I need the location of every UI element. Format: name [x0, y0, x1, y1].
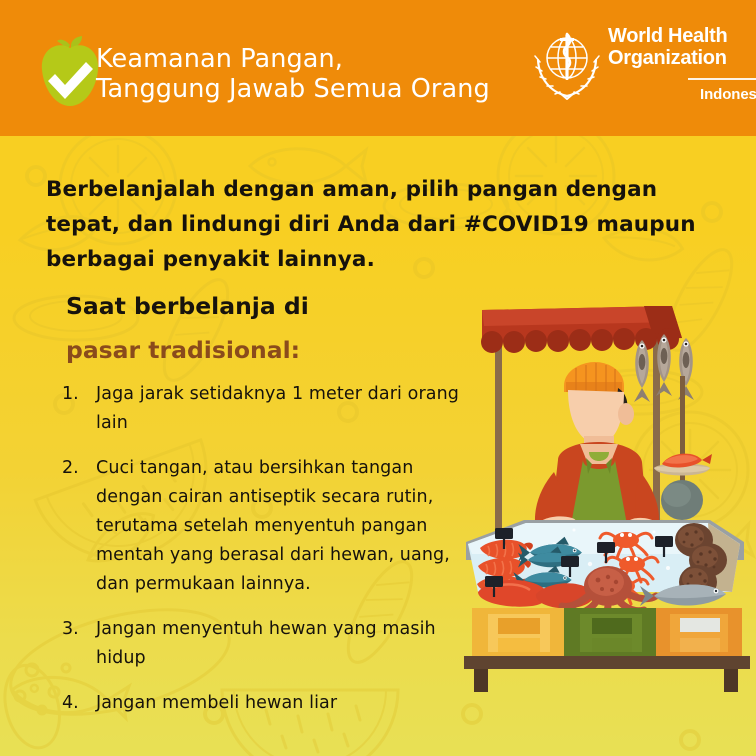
crates	[472, 608, 742, 658]
who-country-label: Indonesia	[700, 84, 756, 106]
who-logo: World Health Organization Indonesia	[530, 22, 730, 114]
list-item-text: Jangan menyentuh hewan yang masih hidup	[96, 615, 462, 673]
steps-list: 1. Jaga jarak setidaknya 1 meter dari or…	[62, 380, 462, 734]
list-item-number: 4.	[62, 689, 96, 718]
intro-paragraph: Berbelanjalah dengan aman, pilih pangan …	[46, 172, 696, 277]
who-wordmark: World Health Organization Indonesia	[608, 26, 732, 69]
who-wordmark-line2: Organization	[608, 48, 732, 70]
list-item-text: Cuci tangan, atau bersihkan tangan denga…	[96, 454, 462, 599]
awning	[481, 306, 682, 353]
list-item: 4. Jangan membeli hewan liar	[62, 689, 462, 718]
who-logo-divider	[688, 78, 756, 80]
vendor	[535, 362, 659, 535]
header-bar: Keamanan Pangan, Tanggung Jawab Semua Or…	[0, 0, 756, 136]
subhead: Saat berbelanja di	[66, 292, 309, 320]
weighing-scale	[654, 454, 712, 520]
stall-table	[464, 656, 750, 692]
list-item: 2. Cuci tangan, atau bersihkan tangan de…	[62, 454, 462, 599]
subhead-accent: pasar tradisional:	[66, 336, 300, 364]
list-item: 1. Jaga jarak setidaknya 1 meter dari or…	[62, 380, 462, 438]
list-item-number: 3.	[62, 615, 96, 673]
list-item-number: 2.	[62, 454, 96, 599]
list-item-text: Jaga jarak setidaknya 1 meter dari orang…	[96, 380, 462, 438]
who-wordmark-line1: World Health	[608, 26, 732, 48]
list-item: 3. Jangan menyentuh hewan yang masih hid…	[62, 615, 462, 673]
market-stall-illustration	[458, 292, 756, 692]
infographic-poster: Keamanan Pangan, Tanggung Jawab Semua Or…	[0, 0, 756, 756]
apple-check-icon	[38, 36, 102, 106]
list-item-number: 1.	[62, 380, 96, 438]
scale-pole	[680, 376, 685, 494]
list-item-text: Jangan membeli hewan liar	[96, 689, 337, 718]
who-emblem-icon	[530, 26, 604, 100]
header-title: Keamanan Pangan, Tanggung Jawab Semua Or…	[96, 44, 490, 104]
